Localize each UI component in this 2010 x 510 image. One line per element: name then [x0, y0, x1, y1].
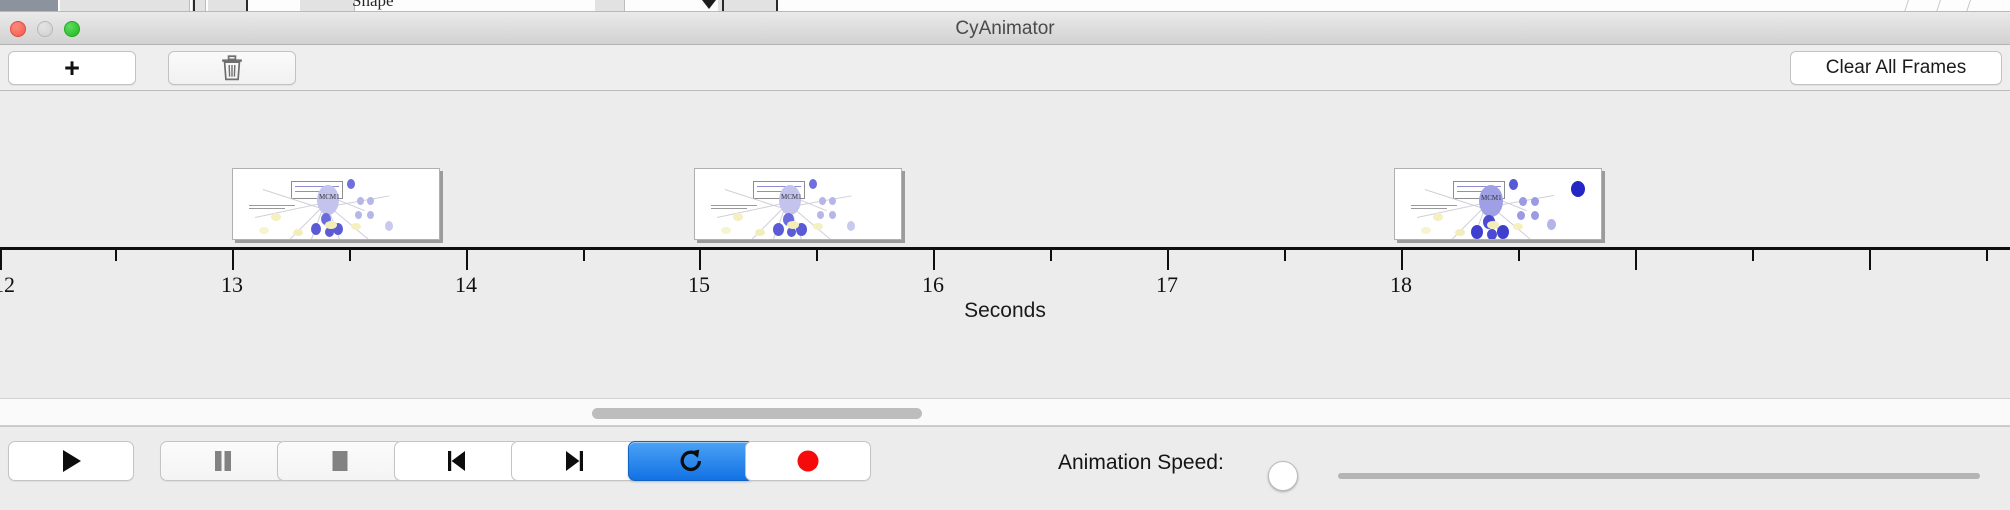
ruler-major-tick — [933, 250, 935, 270]
horizontal-scrollbar-thumb[interactable] — [592, 408, 922, 419]
hub-node-label: MCM1 — [319, 193, 340, 201]
ruler-minor-tick — [115, 250, 117, 261]
timeline-ruler[interactable]: 12 13 14 15 16 17 18 Seconds — [0, 247, 2010, 347]
ruler-major-tick — [466, 250, 468, 270]
background-chip — [300, 0, 355, 12]
clear-all-frames-button[interactable]: Clear All Frames — [1790, 51, 2002, 85]
background-tick — [722, 0, 724, 12]
ruler-tick-label: 12 — [0, 272, 15, 298]
ruler-minor-tick — [1518, 250, 1520, 261]
timeline-panel[interactable]: MCM1 — [0, 92, 2010, 389]
ruler-tick-label: 17 — [1156, 272, 1178, 298]
stop-button[interactable] — [277, 441, 403, 481]
background-window-dark-chip — [0, 0, 58, 12]
ruler-major-tick — [1635, 250, 1637, 270]
animation-speed-slider-track[interactable] — [1338, 473, 1980, 479]
ruler-minor-tick — [1986, 250, 1988, 261]
loop-button[interactable] — [628, 441, 754, 481]
play-button[interactable] — [8, 441, 134, 481]
clear-all-frames-label: Clear All Frames — [1826, 57, 1966, 79]
network-thumbnail-image: MCM1 — [695, 169, 901, 239]
cyanimator-window: Shape CyAnimator + Clear All Frames — [0, 0, 2010, 510]
ruler-minor-tick — [816, 250, 818, 261]
background-tick — [246, 0, 248, 12]
background-window-sliver: Shape — [0, 0, 2010, 12]
toolbar: + Clear All Frames — [0, 45, 2010, 91]
ruler-major-tick — [1401, 250, 1403, 270]
network-thumbnail-image: MCM1 — [1395, 169, 1601, 239]
ruler-major-tick — [1869, 250, 1871, 270]
trash-icon — [221, 55, 243, 81]
frames-track[interactable]: MCM1 — [0, 92, 2010, 247]
background-chip — [718, 0, 778, 12]
ruler-minor-tick — [1050, 250, 1052, 261]
background-slash — [1904, 0, 1909, 12]
background-slash — [1936, 0, 1941, 12]
ruler-minor-tick — [349, 250, 351, 261]
ruler-tick-label: 13 — [221, 272, 243, 298]
background-chip — [60, 0, 190, 12]
skip-back-icon — [444, 448, 470, 474]
hub-node-label: MCM1 — [1481, 194, 1502, 202]
background-tick — [776, 0, 778, 12]
background-slash — [1966, 0, 1971, 12]
background-arrow-icon — [702, 0, 716, 9]
ruler-tick-label: 15 — [688, 272, 710, 298]
add-frame-button[interactable]: + — [8, 51, 136, 85]
title-bar: CyAnimator — [0, 12, 2010, 45]
animation-speed-slider-thumb[interactable] — [1268, 461, 1298, 491]
record-icon — [795, 448, 821, 474]
frame-thumbnail[interactable]: MCM1 — [1394, 168, 1602, 240]
playback-bar: Animation Speed: — [0, 426, 2010, 510]
ruler-tick-label: 14 — [455, 272, 477, 298]
animation-speed-label: Animation Speed: — [1058, 451, 1224, 475]
pause-button[interactable] — [160, 441, 286, 481]
ruler-minor-tick — [1752, 250, 1754, 261]
background-window-label: Shape — [352, 0, 394, 11]
pause-icon — [211, 448, 235, 474]
ruler-minor-tick — [1284, 250, 1286, 261]
axis-title: Seconds — [0, 299, 2010, 323]
skip-forward-icon — [561, 448, 587, 474]
plus-icon: + — [64, 55, 80, 82]
background-chip — [208, 0, 248, 12]
loop-icon — [677, 447, 705, 475]
skip-to-start-button[interactable] — [394, 441, 520, 481]
network-thumbnail-image: MCM1 — [233, 169, 439, 239]
ruler-major-tick — [0, 250, 2, 270]
record-button[interactable] — [745, 441, 871, 481]
horizontal-scrollbar-track[interactable] — [0, 398, 2010, 426]
edge-node — [1571, 181, 1585, 197]
ruler-major-tick — [1167, 250, 1169, 270]
ruler-minor-tick — [583, 250, 585, 261]
play-icon — [59, 448, 83, 474]
ruler-tick-label: 18 — [1390, 272, 1412, 298]
stop-icon — [328, 448, 352, 474]
ruler-baseline — [0, 247, 2010, 250]
window-title: CyAnimator — [0, 12, 2010, 45]
ruler-major-tick — [232, 250, 234, 270]
ruler-major-tick — [699, 250, 701, 270]
frame-thumbnail[interactable]: MCM1 — [694, 168, 902, 240]
ruler-tick-label: 16 — [922, 272, 944, 298]
hub-node-label: MCM1 — [781, 193, 802, 201]
frame-thumbnail[interactable]: MCM1 — [232, 168, 440, 240]
background-chip — [595, 0, 625, 12]
background-tick — [193, 0, 195, 12]
delete-frame-button[interactable] — [168, 51, 296, 85]
skip-to-end-button[interactable] — [511, 441, 637, 481]
